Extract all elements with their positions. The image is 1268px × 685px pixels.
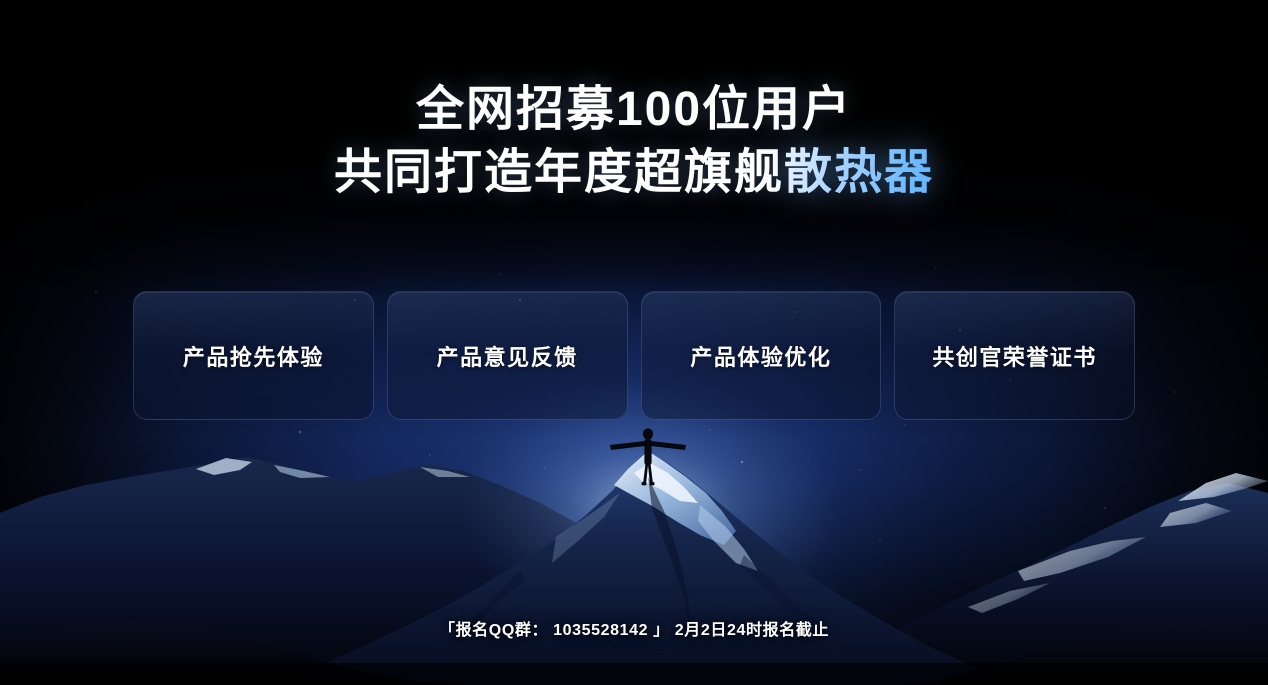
feature-card[interactable]: 产品体验优化 (641, 291, 882, 420)
headline-line-2: 共同打造年度超旗舰散热器 (0, 145, 1268, 202)
signup-footnote: 「报名QQ群： 1035528142 」 2月2日24时报名截止 (0, 616, 1268, 640)
headline: 全网招募100位用户 共同打造年度超旗舰散热器 (0, 82, 1268, 201)
feature-card-label: 产品意见反馈 (437, 340, 578, 372)
headline-line-2-plain: 共同打造年度超旗舰 (334, 146, 784, 199)
feature-card-label: 共创官荣誉证书 (932, 340, 1097, 372)
feature-card[interactable]: 产品意见反馈 (387, 291, 628, 420)
headline-accent: 散热器 (784, 146, 934, 199)
hero-banner: 全网招募100位用户 共同打造年度超旗舰散热器 产品抢先体验 产品意见反馈 产品… (0, 0, 1268, 685)
feature-card-list: 产品抢先体验 产品意见反馈 产品体验优化 共创官荣誉证书 (133, 291, 1135, 420)
feature-card-label: 产品抢先体验 (183, 340, 324, 372)
headline-line-1: 全网招募100位用户 (0, 82, 1268, 139)
feature-card-label: 产品体验优化 (690, 340, 831, 372)
feature-card[interactable]: 共创官荣誉证书 (894, 291, 1135, 420)
feature-card[interactable]: 产品抢先体验 (133, 291, 374, 420)
